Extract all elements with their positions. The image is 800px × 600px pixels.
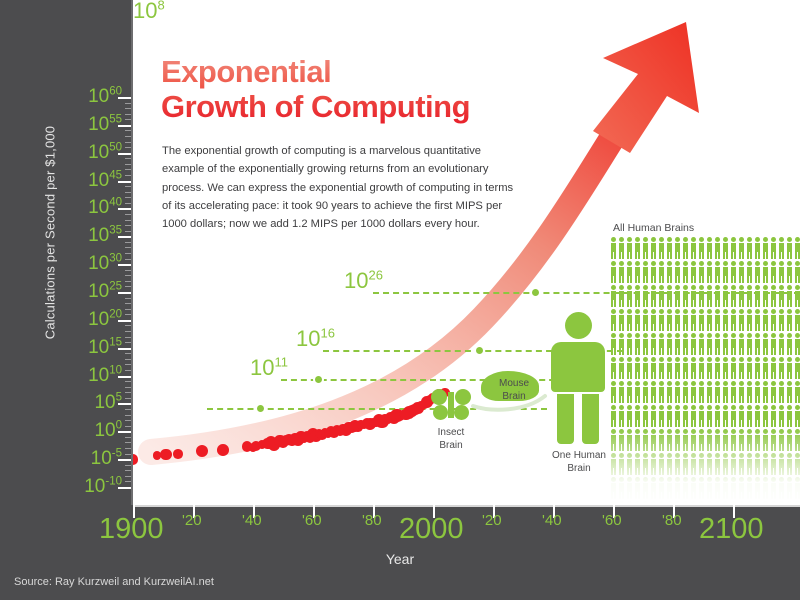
all-human-brains-grid — [611, 237, 800, 505]
page-title: Exponential Growth of Computing — [161, 55, 581, 124]
x-axis-label: '20 — [182, 513, 202, 528]
x-axis-label: 1900 — [99, 515, 164, 544]
insect-brain-caption: Insect Brain — [421, 427, 481, 453]
data-point — [160, 449, 171, 460]
guide-label-10e26: 1026 — [344, 270, 383, 292]
y-axis-label: 1015 — [88, 338, 122, 357]
x-axis-label: 2000 — [399, 515, 464, 544]
x-axis-label: '40 — [542, 513, 562, 528]
guide-label-10e8: 108 — [133, 0, 165, 22]
y-axis-labels: 1060105510501045104010351030102510201015… — [62, 0, 122, 505]
y-axis-label: 1010 — [88, 366, 122, 385]
y-axis-label: 10-10 — [84, 477, 122, 496]
x-axis-label: '20 — [482, 513, 502, 528]
x-axis-label: '40 — [242, 513, 262, 528]
y-axis-label: 1060 — [88, 87, 122, 106]
x-axis-label: '80 — [662, 513, 682, 528]
x-axis-label: 2100 — [699, 515, 764, 544]
data-point — [217, 444, 229, 456]
guide-dot-10e11 — [313, 374, 324, 385]
y-axis-label: 1040 — [88, 198, 122, 217]
intro-paragraph: The exponential growth of computing is a… — [162, 142, 522, 233]
plot-canvas: 108 1011 1016 1026 Insect Brain — [133, 0, 800, 505]
source-credit: Source: Ray Kurzweil and KurzweilAI.net — [14, 576, 214, 588]
one-human-brain-icon — [551, 312, 605, 444]
guide-dot-10e16 — [474, 345, 485, 356]
x-axis-label: '60 — [302, 513, 322, 528]
x-axis-title: Year — [0, 551, 800, 567]
y-axis-label: 1045 — [88, 171, 122, 190]
guide-dot-10e8 — [255, 403, 266, 414]
y-axis-label: 1020 — [88, 310, 122, 329]
data-point — [173, 449, 183, 459]
y-axis-label: 1035 — [88, 226, 122, 245]
guide-label-10e16: 1016 — [296, 328, 335, 350]
all-human-brains-caption: All Human Brains — [613, 222, 694, 234]
y-axis-label: 1055 — [88, 115, 122, 134]
x-axis-label: '60 — [602, 513, 622, 528]
x-axis-line — [133, 505, 800, 507]
y-axis-label: 1030 — [88, 254, 122, 273]
guide-dot-10e26 — [530, 287, 541, 298]
x-axis-label: '80 — [362, 513, 382, 528]
mouse-brain-caption: Mouse Brain — [483, 378, 545, 404]
guide-label-10e11: 1011 — [250, 357, 288, 379]
insect-brain-icon — [431, 389, 471, 423]
y-axis-title: Calculations per Second per $1,000 — [43, 83, 58, 383]
infographic-root: 108 1011 1016 1026 Insect Brain — [0, 0, 800, 600]
y-axis-label: 1025 — [88, 282, 122, 301]
y-axis-spine — [131, 0, 133, 505]
y-axis-label: 1050 — [88, 143, 122, 162]
